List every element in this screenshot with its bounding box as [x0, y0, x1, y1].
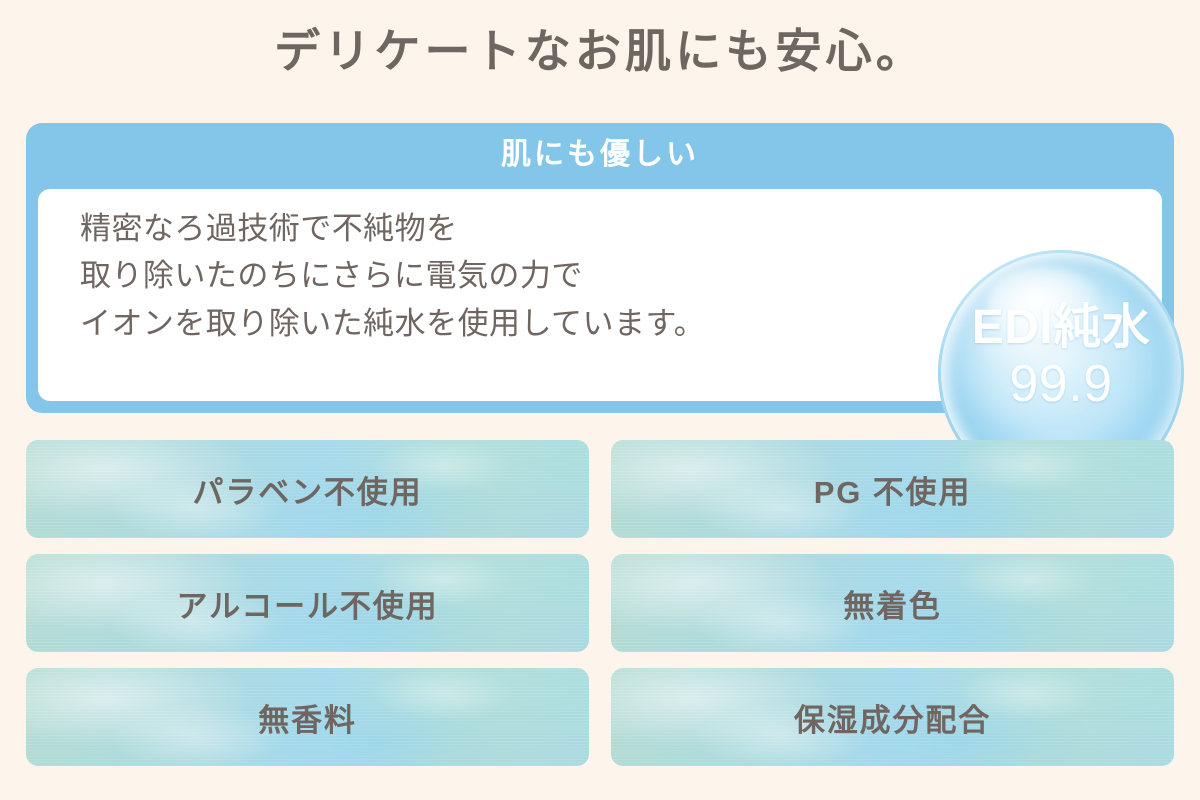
- card-heading: 肌にも優しい: [26, 137, 1174, 173]
- feature-tag-fragrance-free: 無香料: [26, 668, 589, 766]
- feature-tag-label: 無着色: [843, 581, 942, 626]
- feature-tag-label: パラベン不使用: [192, 467, 422, 512]
- feature-tag-alcohol-free: アルコール不使用: [26, 554, 589, 652]
- infographic-page: デリケートなお肌にも安心。 肌にも優しい 精密なろ過技術で不純物を 取り除いたの…: [0, 0, 1200, 800]
- feature-tag-paraben-free: パラベン不使用: [26, 440, 589, 538]
- feature-tag-pg-free: PG 不使用: [611, 440, 1174, 538]
- body-line-2: 取り除いたのちにさらに電気の力で: [80, 252, 705, 299]
- body-line-1: 精密なろ過技術で不純物を: [80, 205, 705, 252]
- feature-tag-label: アルコール不使用: [177, 581, 439, 626]
- card-body-text: 精密なろ過技術で不純物を 取り除いたのちにさらに電気の力で イオンを取り除いた純…: [80, 205, 705, 347]
- feature-tag-grid: パラベン不使用 PG 不使用 アルコール不使用 無着色 無香料 保湿成分配合: [26, 440, 1174, 766]
- feature-card: 肌にも優しい 精密なろ過技術で不純物を 取り除いたのちにさらに電気の力で イオン…: [26, 123, 1174, 413]
- feature-tag-label: 保湿成分配合: [794, 695, 991, 740]
- feature-tag-moisturizing: 保湿成分配合: [611, 668, 1174, 766]
- feature-tag-no-colorant: 無着色: [611, 554, 1174, 652]
- feature-tag-label: 無香料: [258, 695, 357, 740]
- feature-tag-label: PG 不使用: [814, 467, 972, 512]
- body-line-3: イオンを取り除いた純水を使用しています。: [80, 300, 705, 347]
- card-body-panel: 精密なろ過技術で不純物を 取り除いたのちにさらに電気の力で イオンを取り除いた純…: [38, 189, 1162, 401]
- page-title: デリケートなお肌にも安心。: [0, 26, 1200, 77]
